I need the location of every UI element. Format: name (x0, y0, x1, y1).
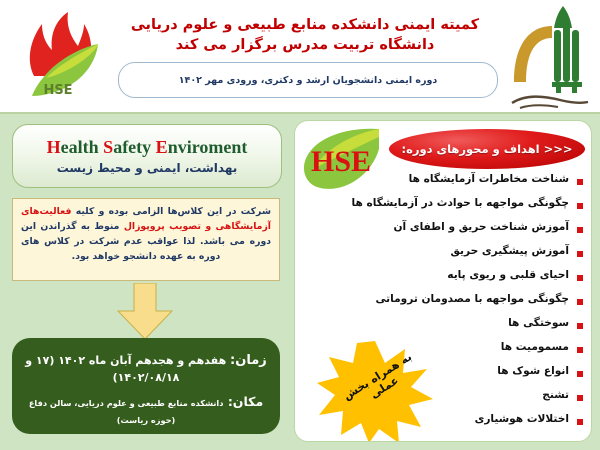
goal-text: مسمومیت ها (501, 341, 569, 353)
poster-root: HSE کمیته ایمنی دانشکده منابع طبیعی و عل… (0, 0, 600, 450)
goal-text: تشنج (542, 389, 569, 401)
page-title: کمیته ایمنی دانشکده منابع طبیعی و علوم د… (110, 16, 500, 55)
list-item: آموزش شناخت حریق و اطفای آن (299, 221, 585, 241)
hse-enviroment-rest: nviroment (168, 137, 248, 157)
bullet-icon (577, 347, 583, 353)
tarbiat-modares-university-logo (502, 4, 594, 112)
list-item: احیای قلبی و ریوی پایه (299, 269, 585, 289)
schedule-card: زمان: هفدهم و هجدهم آبان ماه ۱۴۰۲ (۱۷ و … (12, 338, 280, 434)
bullet-icon (577, 203, 583, 209)
mandatory-attendance-note: شرکت در این کلاس‌ها الزامی بوده و کلیه ف… (12, 198, 280, 281)
goals-panel: HSE <<< اهداف و محورهای دوره: شناخت مخاط… (294, 120, 592, 442)
practical-section-starburst (315, 339, 435, 442)
list-item: چگونگی مواجهه با مصدومان تروماتی (299, 293, 585, 313)
svg-text:HSE: HSE (43, 83, 72, 98)
down-arrow-icon (112, 283, 178, 341)
bullet-icon (577, 275, 583, 281)
subtitle-pill: دوره ایمنی دانشجویان ارشد و دکتری، ورودی… (118, 62, 498, 98)
goal-text: انواع شوک ها (497, 365, 569, 377)
hse-persian-title: بهداشت، ایمنی و محیط زیست (57, 161, 238, 175)
bullet-icon (577, 179, 583, 185)
time-value: هفدهم و هجدهم آبان ماه ۱۴۰۲ (۱۷ و ۱۴۰۲/۰… (25, 354, 226, 384)
footer-strip (0, 442, 600, 450)
goal-text: سوختگی ها (508, 317, 569, 329)
hse-e-initial: E (156, 137, 168, 157)
time-row: زمان: هفدهم و هجدهم آبان ماه ۱۴۰۲ (۱۷ و … (24, 352, 268, 386)
time-label: زمان: (230, 353, 267, 368)
hse-english-title: Health Safety Enviroment (47, 137, 248, 158)
page-subtitle: دوره ایمنی دانشجویان ارشد و دکتری، ورودی… (179, 75, 438, 86)
goal-text: آموزش شناخت حریق و اطفای آن (394, 221, 570, 233)
hse-safety-rest: afety (113, 137, 151, 157)
hse-health-rest: ealth (61, 137, 99, 157)
bullet-icon (577, 395, 583, 401)
place-label: مکان: (228, 394, 263, 409)
list-item: سوختگی ها (299, 317, 585, 337)
left-column: Health Safety Enviroment بهداشت، ایمنی و… (8, 120, 286, 442)
bullet-icon (577, 371, 583, 377)
goal-text: شناخت مخاطرات آزمایشگاه ها (409, 173, 569, 185)
goal-text: چگونگی مواجهه با مصدومان تروماتی (375, 293, 569, 305)
hse-definition-card: Health Safety Enviroment بهداشت، ایمنی و… (12, 124, 282, 188)
place-value: دانشکده منابع طبیعی و علوم دریایی، سالن … (29, 398, 224, 426)
goal-text: چگونگی مواجهه با حوادث در آزمایشگاه ها (351, 197, 569, 209)
list-item: شناخت مخاطرات آزمایشگاه ها (299, 173, 585, 193)
poster-header: HSE کمیته ایمنی دانشکده منابع طبیعی و عل… (0, 0, 600, 113)
goals-heading-text: <<< اهداف و محورهای دوره: (401, 142, 572, 156)
note-part-1: شرکت در این کلاس‌ها الزامی بوده و کلیه (71, 206, 271, 217)
bullet-icon (577, 323, 583, 329)
place-row: مکان: دانشکده منابع طبیعی و علوم دریایی،… (24, 393, 268, 428)
hse-s-initial: S (103, 137, 113, 157)
list-item: آموزش پیشگیری حریق (299, 245, 585, 265)
bullet-icon (577, 419, 583, 425)
goal-text: احیای قلبی و ریوی پایه (447, 269, 569, 281)
header-divider (0, 112, 600, 114)
bullet-icon (577, 251, 583, 257)
bullet-icon (577, 299, 583, 305)
goal-text: آموزش پیشگیری حریق (450, 245, 569, 257)
bullet-icon (577, 227, 583, 233)
goals-heading-badge: <<< اهداف و محورهای دوره: (389, 129, 585, 169)
hse-flame-leaf-logo: HSE (12, 6, 108, 106)
note-text: شرکت در این کلاس‌ها الزامی بوده و کلیه ف… (21, 204, 271, 264)
hse-h-initial: H (47, 137, 61, 157)
goal-text: اختلالات هوشیاری (475, 413, 569, 425)
list-item: چگونگی مواجهه با حوادث در آزمایشگاه ها (299, 197, 585, 217)
